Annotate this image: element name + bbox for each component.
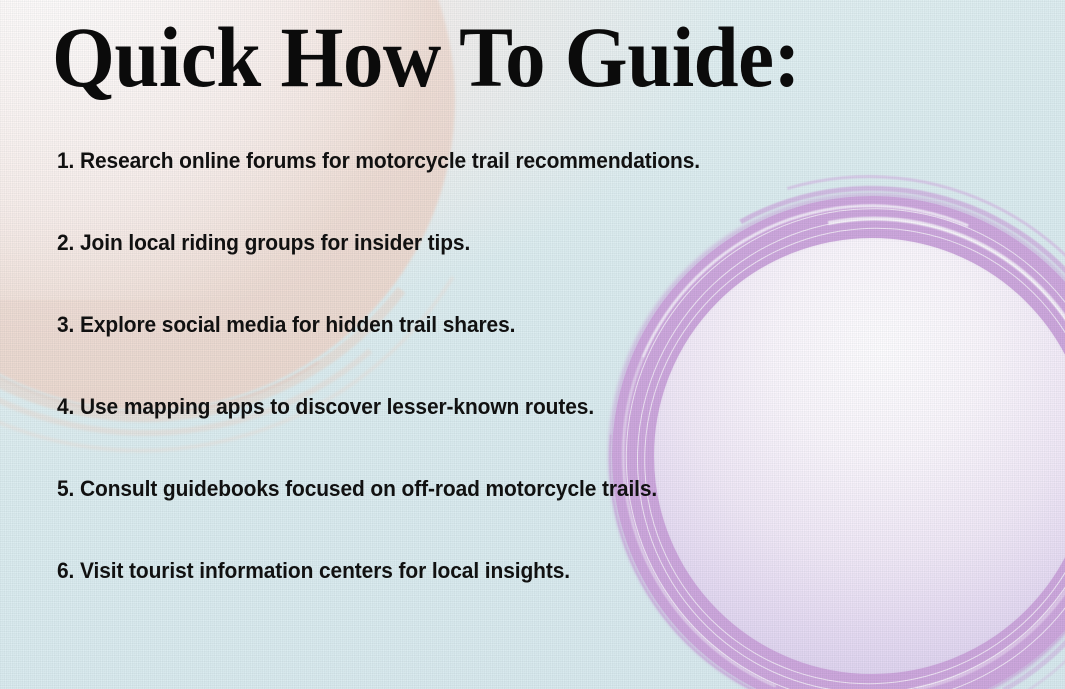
steps-list: 1. Research online forums for motorcycle… (57, 150, 997, 642)
list-item: 3. Explore social media for hidden trail… (57, 314, 931, 396)
list-item: 1. Research online forums for motorcycle… (57, 150, 931, 232)
list-item: 2. Join local riding groups for insider … (57, 232, 931, 314)
page-title: Quick How To Guide: (52, 14, 800, 100)
poster-content: Quick How To Guide: 1. Research online f… (0, 0, 1065, 689)
list-item: 5. Consult guidebooks focused on off-roa… (57, 478, 931, 560)
poster-canvas: Quick How To Guide: 1. Research online f… (0, 0, 1065, 689)
list-item: 6. Visit tourist information centers for… (57, 560, 931, 642)
list-item: 4. Use mapping apps to discover lesser-k… (57, 396, 931, 478)
